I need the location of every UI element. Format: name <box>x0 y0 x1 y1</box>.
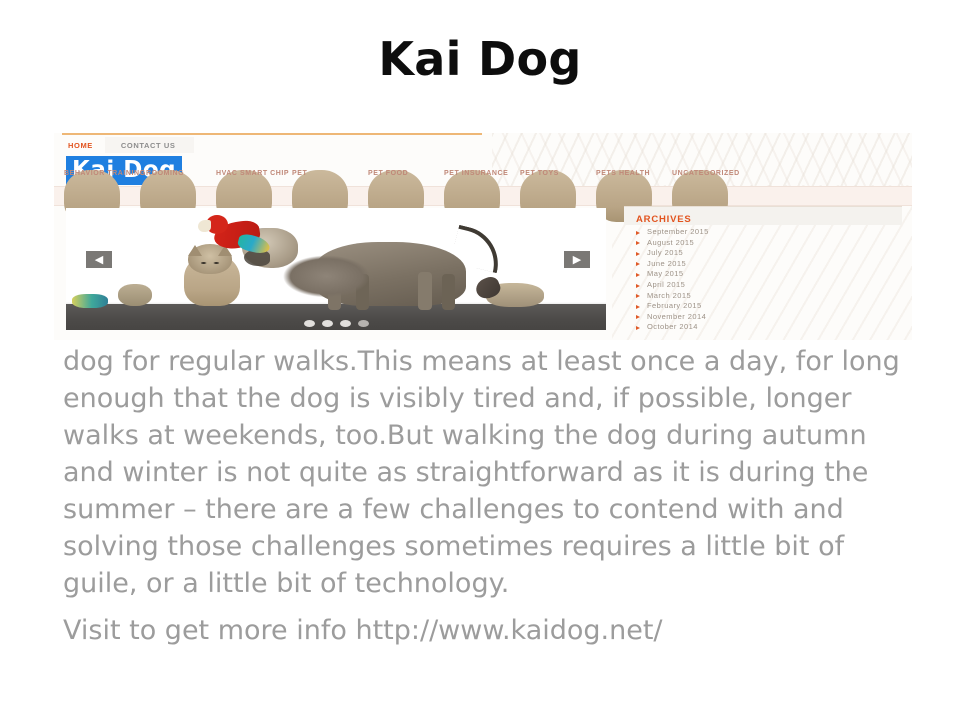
archives-title: ARCHIVES <box>636 214 692 225</box>
slide-body: dog for regular walks.This means at leas… <box>63 343 923 649</box>
page-title: Kai Dog <box>0 32 960 86</box>
archives-list: September 2015 August 2015 July 2015 Jun… <box>624 227 902 333</box>
slider-dot[interactable] <box>340 320 351 327</box>
body-paragraph-main: dog for regular walks.This means at leas… <box>63 343 923 602</box>
kitten-image <box>118 284 152 306</box>
archives-item-november-2014[interactable]: November 2014 <box>636 312 902 323</box>
slider-prev-arrow-icon[interactable]: ◀ <box>86 251 112 268</box>
archives-widget: ARCHIVES September 2015 August 2015 July… <box>624 206 902 333</box>
site-category-nav: BEHAVIOR TRAINING GROOMING HVAC SMART CH… <box>54 186 912 206</box>
body-paragraph-link: Visit to get more info http://www.kaidog… <box>63 612 923 649</box>
slider-dot[interactable] <box>304 320 315 327</box>
cat-face-image <box>194 256 226 270</box>
slider-dot[interactable] <box>322 320 333 327</box>
hero-slider[interactable]: ◀ ▶ <box>66 208 606 330</box>
archives-item-may-2015[interactable]: May 2015 <box>636 269 902 280</box>
archives-item-june-2015[interactable]: June 2015 <box>636 259 902 270</box>
dog-leg-image <box>442 274 455 310</box>
archives-item-august-2015[interactable]: August 2015 <box>636 238 902 249</box>
site-top-nav: HOME CONTACT US <box>62 136 194 153</box>
dog-leg-image <box>418 272 432 310</box>
slider-dots <box>66 320 606 327</box>
slider-dot-active[interactable] <box>358 320 369 327</box>
header-top-rule <box>62 133 482 135</box>
archives-header: ARCHIVES <box>624 206 902 225</box>
archives-item-april-2015[interactable]: April 2015 <box>636 280 902 291</box>
archives-item-september-2015[interactable]: September 2015 <box>636 227 902 238</box>
slider-next-arrow-icon[interactable]: ▶ <box>564 251 590 268</box>
top-nav-item-home[interactable]: HOME <box>62 137 105 153</box>
website-screenshot-canvas: HOME CONTACT US Kai Dog BEHAVIOR TRAININ… <box>54 133 912 340</box>
archives-item-july-2015[interactable]: July 2015 <box>636 248 902 259</box>
archives-item-march-2015[interactable]: March 2015 <box>636 291 902 302</box>
parrot-beak-image <box>198 220 211 232</box>
lizard-image <box>72 294 108 308</box>
archives-item-october-2014[interactable]: October 2014 <box>636 322 902 333</box>
cat-ear-left-image <box>188 245 202 256</box>
top-nav-item-contact-us[interactable]: CONTACT US <box>105 137 194 153</box>
website-screenshot: HOME CONTACT US Kai Dog BEHAVIOR TRAININ… <box>54 133 912 340</box>
archives-item-february-2015[interactable]: February 2015 <box>636 301 902 312</box>
